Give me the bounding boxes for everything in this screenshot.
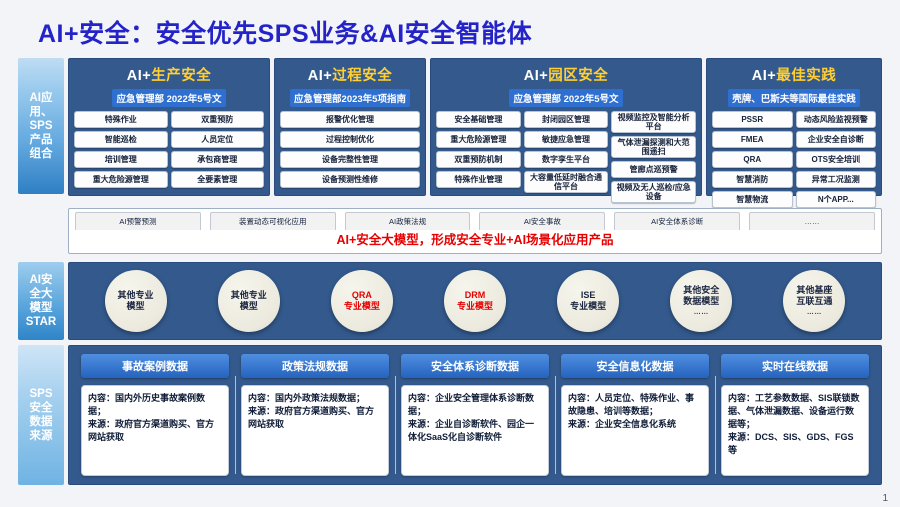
capability-cell[interactable]: 封闭园区管理 (524, 111, 609, 128)
panel-subtitle: 应急管理部 2022年5号文 (112, 89, 225, 107)
capability-cell[interactable]: 设备完整性管理 (280, 151, 420, 168)
rail-label-line: AI安 (26, 273, 56, 287)
rail-label-line: 产品 (29, 133, 52, 147)
data-source-card-heading: 政策法规数据 (241, 354, 389, 378)
rail-label: AI安全大模型STAR (26, 273, 56, 329)
rail-label-line: 安全 (29, 401, 52, 415)
data-source-card-body: 内容：企业安全管理体系诊断数据；来源：企业自诊断软件、园企一体化SaaS化自诊断… (401, 385, 549, 476)
data-source-card-line: 内容：人员定位、特殊作业、事故隐患、培训等数据； (568, 392, 702, 418)
capability-cell[interactable]: 智慧消防 (712, 171, 793, 188)
capability-cell[interactable]: 重大危险源管理 (74, 171, 168, 188)
scenario-tab[interactable]: AI政策法规 (345, 212, 471, 230)
rail-label-line: 数据 (29, 415, 52, 429)
panel-production-safety: AI+生产安全 应急管理部 2022年5号文 特殊作业智能巡检培训管理重大危险源… (68, 58, 270, 196)
rail-ai-application: AI应用、SPS产品组合 (18, 58, 64, 194)
model-circle-line1: 其他专业 (231, 290, 267, 301)
rail-label-line: 全大 (26, 287, 56, 301)
scenario-tab[interactable]: 装置动态可视化应用 (210, 212, 336, 230)
data-source-card-heading: 事故案例数据 (81, 354, 229, 378)
model-circle[interactable]: QRA专业模型 (331, 270, 393, 332)
capability-cell[interactable]: 智慧物流 (712, 191, 793, 208)
model-circle[interactable]: 其他安全数据模型…… (670, 270, 732, 332)
tagline-text: AI+安全大模型，形成安全专业+AI场景化应用产品 (69, 229, 881, 248)
model-circle[interactable]: ISE专业模型 (557, 270, 619, 332)
data-source-card[interactable]: 安全信息化数据内容：人员定位、特殊作业、事故隐患、培训等数据；来源：企业安全信息… (555, 354, 715, 476)
scenario-tabs: AI预警预测装置动态可视化应用AI政策法规AI安全事故AI安全体系诊断…… (69, 209, 881, 230)
model-circle[interactable]: 其他专业模型 (218, 270, 280, 332)
capability-cell[interactable]: 大容量低延时融合通信平台 (524, 171, 609, 193)
data-source-card[interactable]: 安全体系诊断数据内容：企业安全管理体系诊断数据；来源：企业自诊断软件、园企一体化… (395, 354, 555, 476)
data-source-card-line: 内容：企业安全管理体系诊断数据； (408, 392, 542, 418)
rail-label-line: AI应 (29, 91, 52, 105)
panel-title: AI+过程安全 (275, 64, 425, 85)
data-source-card-body: 内容：国内外政策法规数据；来源：政府官方渠道购买、官方网站获取 (241, 385, 389, 476)
model-circle-line2: 互联互通 (796, 296, 832, 307)
data-source-card-body: 内容：人员定位、特殊作业、事故隐患、培训等数据；来源：企业安全信息化系统 (561, 385, 709, 476)
capability-cell[interactable]: 视频监控及智能分析平台 (611, 111, 696, 133)
scenario-tab[interactable]: AI安全体系诊断 (614, 212, 740, 230)
capability-cell[interactable]: 报警优化管理 (280, 111, 420, 128)
page-number: 1 (882, 493, 888, 504)
capability-cell[interactable]: 敏捷应急管理 (524, 131, 609, 148)
capability-cell[interactable]: 人员定位 (171, 131, 265, 148)
panel-title: AI+生产安全 (69, 64, 269, 85)
data-source-card-line: 内容：国内外历史事故案例数据； (88, 392, 222, 418)
model-circle-ellipsis: …… (694, 307, 709, 318)
model-band: 其他专业模型其他专业模型QRA专业模型DRM专业模型ISE专业模型其他安全数据模… (68, 262, 882, 340)
data-source-card-body: 内容：国内外历史事故案例数据；来源：政府官方渠道购买、官方网站获取 (81, 385, 229, 476)
scenario-tab[interactable]: AI预警预测 (75, 212, 201, 230)
model-circle-line1: 其他基座 (796, 285, 832, 296)
product-portfolio-band: AI+生产安全 应急管理部 2022年5号文 特殊作业智能巡检培训管理重大危险源… (68, 58, 882, 196)
panel-column: 安全基础管理重大危险源管理双重预防机制特殊作业管理 (436, 111, 521, 203)
panel-grid: 报警优化管理过程控制优化设备完整性管理设备预测性维修 (275, 107, 425, 188)
rail-label: AI应用、SPS产品组合 (29, 91, 52, 161)
data-source-card-heading: 实时在线数据 (721, 354, 869, 378)
capability-cell[interactable]: 全要素管理 (171, 171, 265, 188)
panel-grid: 特殊作业智能巡检培训管理重大危险源管理双重预防人员定位承包商管理全要素管理 (69, 107, 269, 188)
data-source-card-line: 来源：企业自诊断软件、园企一体化SaaS化自诊断软件 (408, 418, 542, 444)
panel-grid: 安全基础管理重大危险源管理双重预防机制特殊作业管理封闭园区管理敏捷应急管理数字孪… (431, 107, 701, 203)
capability-cell[interactable]: FMEA (712, 131, 793, 148)
panel-subtitle: 应急管理部2023年5项指南 (290, 89, 410, 107)
capability-cell[interactable]: 异常工况监测 (796, 171, 877, 188)
scenario-tab[interactable]: AI安全事故 (479, 212, 605, 230)
rail-label-line: STAR (26, 315, 56, 329)
capability-cell[interactable]: 特殊作业 (74, 111, 168, 128)
capability-cell[interactable]: QRA (712, 151, 793, 168)
model-circle-line1: QRA (352, 290, 372, 301)
data-source-card-line: 来源：政府官方渠道购买、官方网站获取 (88, 418, 222, 444)
capability-cell[interactable]: 双重预防 (171, 111, 265, 128)
capability-cell[interactable]: 智能巡检 (74, 131, 168, 148)
capability-cell[interactable]: 动态风险监视预警 (796, 111, 877, 128)
data-source-card-line: 内容：国内外政策法规数据； (248, 392, 382, 405)
model-circle-line2: 专业模型 (570, 301, 606, 312)
capability-cell[interactable]: 企业安全自诊断 (796, 131, 877, 148)
panel-subtitle: 壳牌、巴斯夫等国际最佳实践 (728, 89, 860, 107)
panel-column: 双重预防人员定位承包商管理全要素管理 (171, 111, 265, 188)
rail-label-line: 来源 (29, 429, 52, 443)
data-source-band: 事故案例数据内容：国内外历史事故案例数据；来源：政府官方渠道购买、官方网站获取政… (68, 345, 882, 485)
panel-grid: PSSRFMEAQRA智慧消防智慧物流动态风险监视预警企业安全自诊断OTS安全培… (707, 107, 881, 208)
panel-title: AI+最佳实践 (707, 64, 881, 85)
panel-title: AI+园区安全 (431, 64, 701, 85)
capability-cell[interactable]: 数字孪生平台 (524, 151, 609, 168)
panel-column: 特殊作业智能巡检培训管理重大危险源管理 (74, 111, 168, 188)
data-source-card[interactable]: 实时在线数据内容：工艺参数数据、SIS联锁数据、气体泄漏数据、设备运行数据等；来… (715, 354, 875, 476)
scenario-tab-band: AI预警预测装置动态可视化应用AI政策法规AI安全事故AI安全体系诊断…… AI… (68, 208, 882, 254)
rail-label-line: SPS (29, 119, 52, 133)
capability-cell[interactable]: N个APP... (796, 191, 877, 208)
capability-cell[interactable]: 特殊作业管理 (436, 171, 521, 188)
model-circle-line2: 数据模型 (683, 296, 719, 307)
data-source-card-line: 来源：政府官方渠道购买、官方网站获取 (248, 405, 382, 431)
panel-best-practice: AI+最佳实践 壳牌、巴斯夫等国际最佳实践 PSSRFMEAQRA智慧消防智慧物… (706, 58, 882, 196)
rail-sps-data-source: SPS安全数据来源 (18, 345, 64, 485)
data-source-card[interactable]: 政策法规数据内容：国内外政策法规数据；来源：政府官方渠道购买、官方网站获取 (235, 354, 395, 476)
capability-cell[interactable]: 管廊点巡预警 (611, 161, 696, 178)
rail-label-line: SPS (29, 387, 52, 401)
panel-subtitle: 应急管理部 2022年5号文 (509, 89, 622, 107)
capability-cell[interactable]: 气体泄漏探测和大范围遥扫 (611, 136, 696, 158)
capability-cell[interactable]: PSSR (712, 111, 793, 128)
page-title: AI+安全：安全优先SPS业务&AI安全智能体 (38, 14, 532, 50)
slide-canvas: AI+安全：安全优先SPS业务&AI安全智能体 AI应用、SPS产品组合 AI安… (0, 0, 900, 507)
capability-cell[interactable]: 视频及无人巡检/应急设备 (611, 181, 696, 203)
model-circle-line2: 专业模型 (344, 301, 380, 312)
rail-label-line: 用、 (29, 105, 52, 119)
data-source-card-body: 内容：工艺参数数据、SIS联锁数据、气体泄漏数据、设备运行数据等；来源：DCS、… (721, 385, 869, 476)
capability-cell[interactable]: 培训管理 (74, 151, 168, 168)
data-source-card-heading: 安全信息化数据 (561, 354, 709, 378)
panel-column: PSSRFMEAQRA智慧消防智慧物流 (712, 111, 793, 208)
model-circle-line1: DRM (465, 290, 486, 301)
rail-ai-model-star: AI安全大模型STAR (18, 262, 64, 340)
data-source-card-line: 来源：企业安全信息化系统 (568, 418, 702, 431)
data-source-card-heading: 安全体系诊断数据 (401, 354, 549, 378)
model-circle[interactable]: 其他专业模型 (105, 270, 167, 332)
model-circle-line2: 专业模型 (457, 301, 493, 312)
capability-cell[interactable]: 承包商管理 (171, 151, 265, 168)
model-circle-line1: ISE (581, 290, 596, 301)
data-source-card-line: 来源：DCS、SIS、GDS、FGS等 (728, 431, 862, 457)
capability-cell[interactable]: 双重预防机制 (436, 151, 521, 168)
model-circle-line2: 模型 (240, 301, 258, 312)
capability-cell[interactable]: 重大危险源管理 (436, 131, 521, 148)
model-circle-line1: 其他安全 (683, 285, 719, 296)
panel-column: 视频监控及智能分析平台气体泄漏探测和大范围遥扫管廊点巡预警视频及无人巡检/应急设… (611, 111, 696, 203)
model-circle-line1: 其他专业 (118, 290, 154, 301)
panel-park-safety: AI+园区安全 应急管理部 2022年5号文 安全基础管理重大危险源管理双重预防… (430, 58, 702, 196)
panel-column: 报警优化管理过程控制优化设备完整性管理设备预测性维修 (280, 111, 420, 188)
rail-label-line: 模型 (26, 301, 56, 315)
panel-column: 封闭园区管理敏捷应急管理数字孪生平台大容量低延时融合通信平台 (524, 111, 609, 203)
rail-label: SPS安全数据来源 (29, 387, 52, 443)
data-source-card[interactable]: 事故案例数据内容：国内外历史事故案例数据；来源：政府官方渠道购买、官方网站获取 (75, 354, 235, 476)
rail-label-line: 组合 (29, 147, 52, 161)
model-circle[interactable]: DRM专业模型 (444, 270, 506, 332)
capability-cell[interactable]: 过程控制优化 (280, 131, 420, 148)
model-circle-ellipsis: …… (807, 307, 822, 318)
capability-cell[interactable]: 安全基础管理 (436, 111, 521, 128)
panel-process-safety: AI+过程安全 应急管理部2023年5项指南 报警优化管理过程控制优化设备完整性… (274, 58, 426, 196)
model-circle[interactable]: 其他基座互联互通…… (783, 270, 845, 332)
model-circle-line2: 模型 (127, 301, 145, 312)
capability-cell[interactable]: 设备预测性维修 (280, 171, 420, 188)
panel-column: 动态风险监视预警企业安全自诊断OTS安全培训异常工况监测N个APP... (796, 111, 877, 208)
capability-cell[interactable]: OTS安全培训 (796, 151, 877, 168)
scenario-tab[interactable]: …… (749, 212, 875, 230)
data-source-card-line: 内容：工艺参数数据、SIS联锁数据、气体泄漏数据、设备运行数据等； (728, 392, 862, 431)
